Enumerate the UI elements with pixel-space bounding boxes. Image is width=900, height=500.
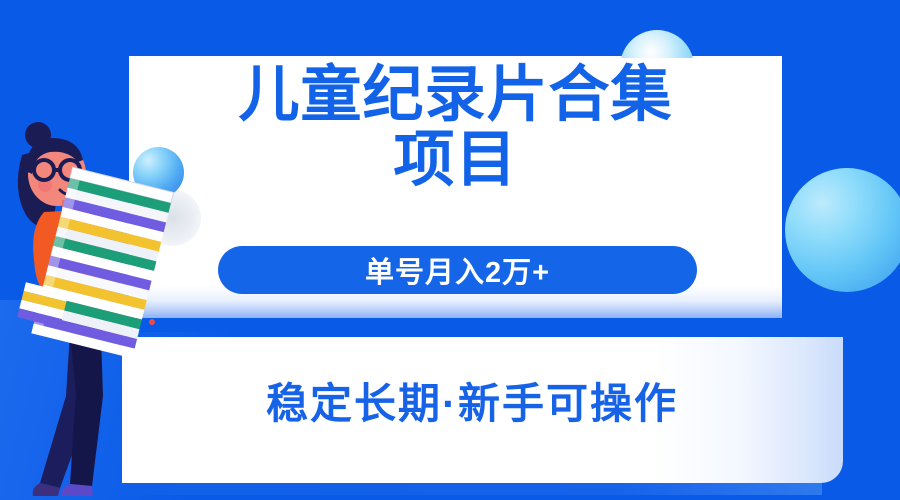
top-sphere-icon xyxy=(612,30,702,58)
promo-banner: 儿童纪录片合集项目 单号月入2万+ 稳定长期·新手可操作 xyxy=(0,0,900,500)
woman-carrying-books-illustration xyxy=(0,100,210,500)
large-sphere-icon xyxy=(785,168,900,292)
title-line-2: 项目 xyxy=(393,125,517,193)
subtitle-text: 稳定长期·新手可操作 xyxy=(122,370,822,431)
title-line-1: 儿童纪录片合集 xyxy=(238,60,672,128)
subtitle-card-footbar xyxy=(122,483,822,495)
page-title: 儿童纪录片合集项目 xyxy=(129,62,782,191)
highlight-pill-label: 单号月入2万+ xyxy=(365,249,550,291)
highlight-pill: 单号月入2万+ xyxy=(218,246,697,294)
